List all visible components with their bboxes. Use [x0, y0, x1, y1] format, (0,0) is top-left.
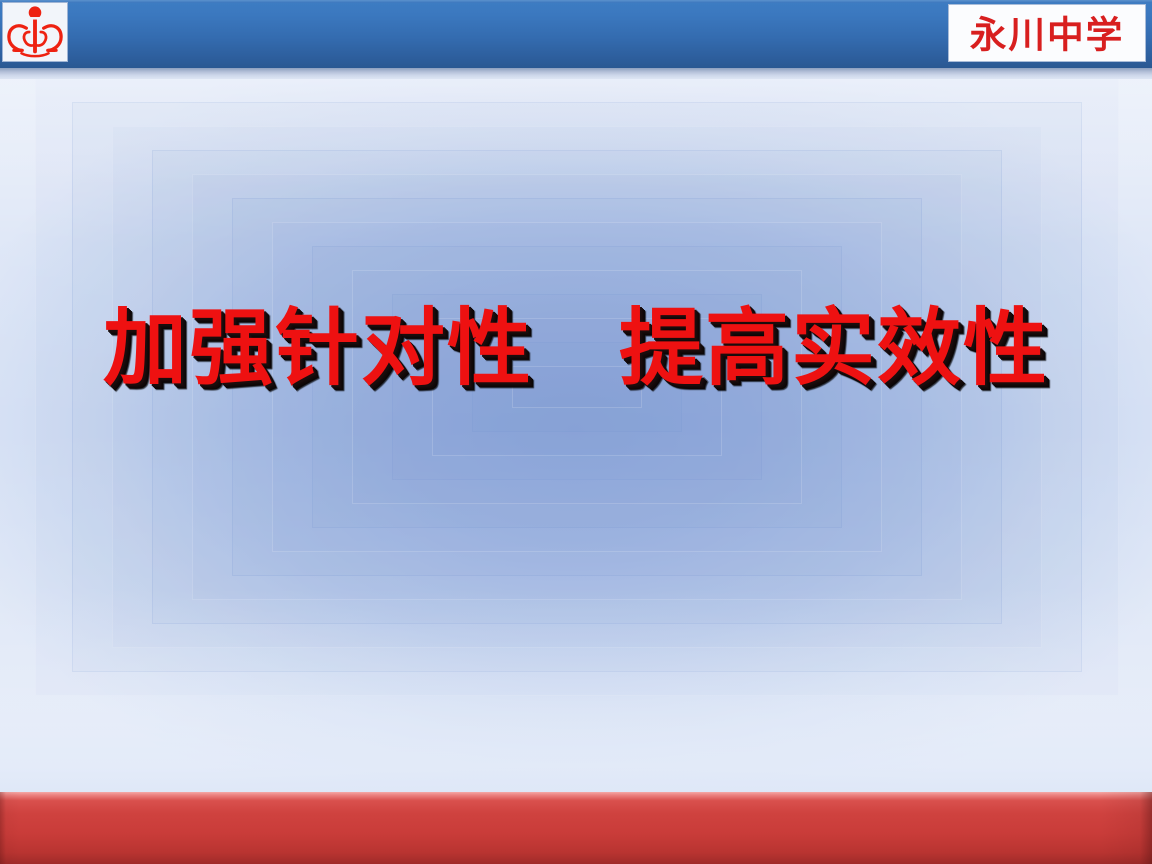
slide-background — [0, 68, 1152, 864]
school-name-calligraphy: 永川中学 — [949, 5, 1145, 61]
header-top-highlight — [0, 0, 1152, 3]
school-emblem-icon — [2, 2, 68, 62]
header-bottom-fade — [0, 68, 1152, 79]
footer-accent-band — [0, 792, 1152, 864]
school-name-text: 永川中学 — [970, 13, 1124, 56]
school-name-logo: 永川中学 — [948, 4, 1146, 62]
presentation-slide: 永川中学 加强针对性 提高实效性 — [0, 0, 1152, 864]
school-emblem-svg — [3, 3, 67, 61]
